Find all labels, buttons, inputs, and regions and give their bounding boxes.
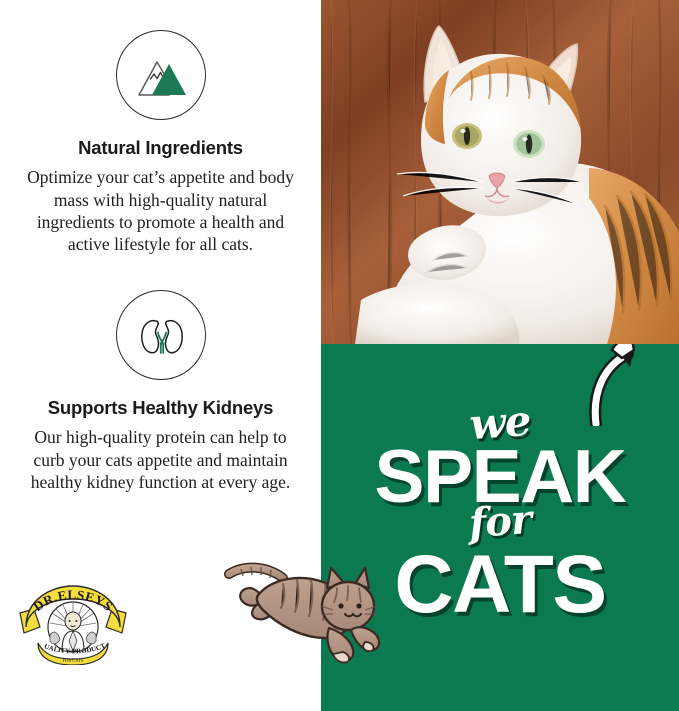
logo-subtagline-text: FOR CATS	[63, 658, 84, 663]
curved-arrow-icon	[576, 344, 679, 426]
kidneys-icon	[116, 290, 206, 380]
cat-photo	[321, 0, 679, 344]
feature-title: Natural Ingredients	[0, 138, 321, 158]
feature-title: Supports Healthy Kidneys	[0, 398, 321, 418]
feature-supports-healthy-kidneys: Supports Healthy Kidneys Our high-qualit…	[0, 290, 321, 493]
feature-natural-ingredients: Natural Ingredients Optimize your cat’s …	[0, 30, 321, 255]
product-infographic: Natural Ingredients Optimize your cat’s …	[0, 0, 679, 711]
mountain-icon	[116, 30, 206, 120]
headline-speak: SPEAK	[321, 439, 679, 514]
dr-elseys-logo: DR.ELSEYS QUALITY PRODUCTS FOR CATS	[14, 583, 132, 665]
leaping-cat-illustration	[215, 544, 395, 670]
feature-body: Our high-quality protein can help to cur…	[0, 426, 321, 493]
feature-body: Optimize your cat’s appetite and body ma…	[0, 166, 321, 255]
